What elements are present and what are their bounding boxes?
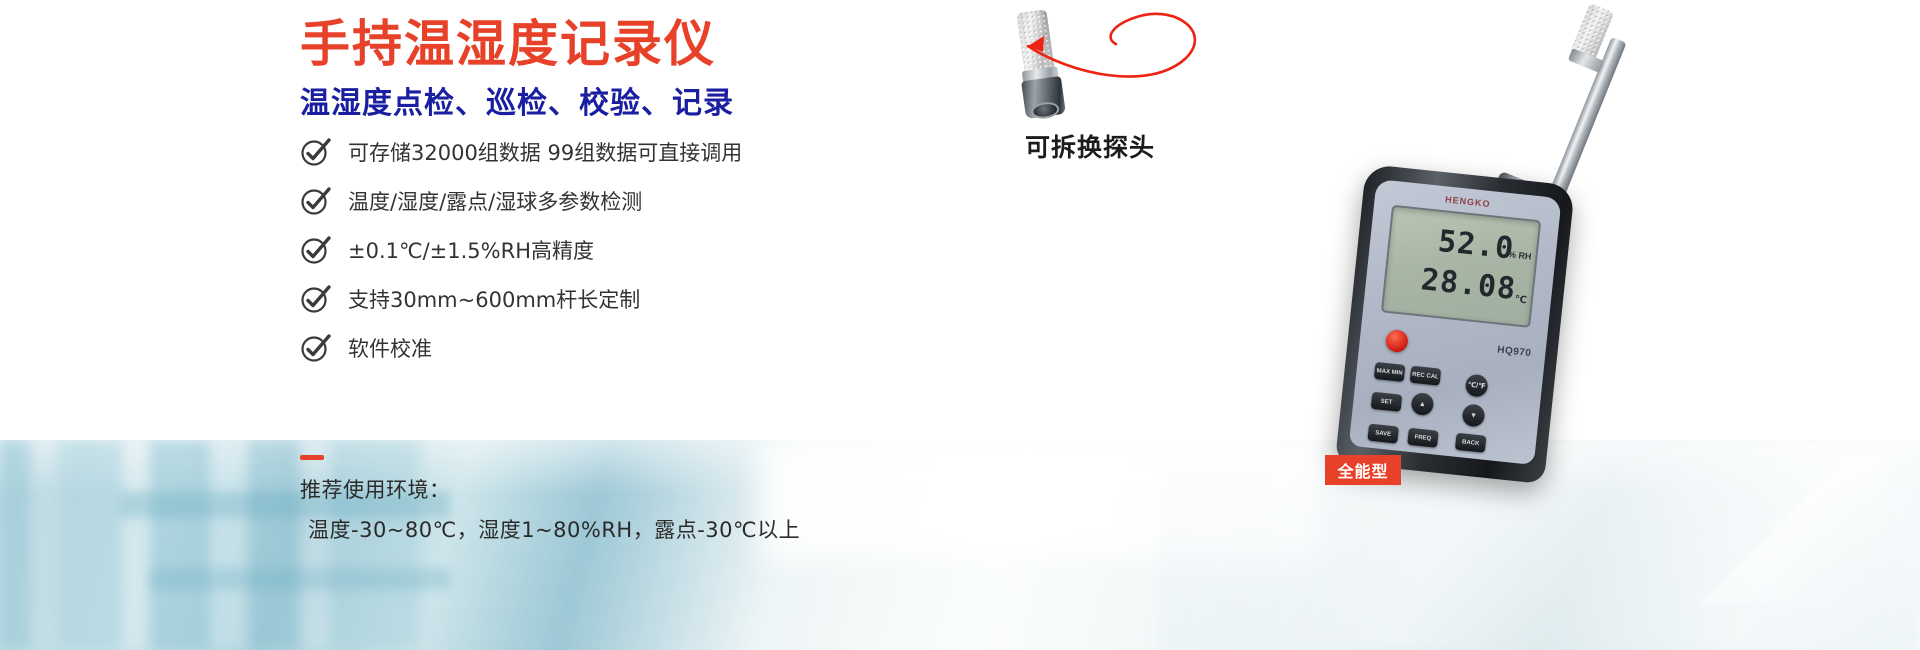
key-save[interactable]: SAVE — [1367, 424, 1399, 444]
key-up[interactable]: ▲ — [1410, 392, 1434, 416]
list-item: ±0.1℃/±1.5%RH高精度 — [300, 228, 940, 272]
meter-front-panel: HENGKO 52.0 % RH 28.08 ℃ HQ970 MAX MIN R… — [1349, 179, 1562, 465]
circle-check-icon — [300, 333, 334, 363]
circle-check-icon — [300, 284, 334, 314]
key-down[interactable]: ▼ — [1461, 403, 1485, 427]
meter-housing: HENGKO 52.0 % RH 28.08 ℃ HQ970 MAX MIN R… — [1335, 164, 1575, 484]
list-item-label: 可存储32000组数据 99组数据可直接调用 — [348, 137, 742, 167]
environment-note: 推荐使用环境： 温度-30~80℃，湿度1~80%RH，露点-30℃以上 — [300, 455, 960, 544]
model-number: HQ970 — [1497, 345, 1532, 360]
accent-dash — [300, 455, 324, 460]
lcd-temperature-value: 28.08 — [1419, 262, 1517, 307]
list-item-label: 软件校准 — [348, 333, 432, 363]
power-button[interactable] — [1385, 329, 1409, 353]
circle-check-icon — [300, 235, 334, 265]
lcd-humidity-value: 52.0 — [1436, 224, 1515, 267]
curved-arrow-icon — [1000, 0, 1230, 110]
key-set[interactable]: SET — [1371, 392, 1403, 412]
keypad: MAX MIN REC CAL ℃/℉ SET ▲ ▼ SAVE FREQ BA… — [1363, 361, 1529, 463]
circle-check-icon — [300, 137, 334, 167]
list-item-label: ±0.1℃/±1.5%RH高精度 — [348, 235, 594, 265]
list-item: 软件校准 — [300, 326, 940, 370]
environment-note-detail: 温度-30~80℃，湿度1~80%RH，露点-30℃以上 — [300, 514, 960, 544]
page-title: 手持温湿度记录仪 — [300, 4, 716, 76]
environment-note-heading: 推荐使用环境： — [300, 474, 960, 504]
handheld-meter: HENGKO 52.0 % RH 28.08 ℃ HQ970 MAX MIN R… — [1240, 6, 1660, 486]
list-item-label: 支持30mm~600mm杆长定制 — [348, 284, 640, 314]
key-back[interactable]: BACK — [1455, 433, 1487, 453]
list-item: 温度/湿度/露点/湿球多参数检测 — [300, 179, 940, 223]
circle-check-icon — [300, 186, 334, 216]
key-reccal[interactable]: REC CAL — [1410, 366, 1442, 386]
lcd-display: 52.0 % RH 28.08 ℃ — [1381, 205, 1541, 328]
list-item: 支持30mm~600mm杆长定制 — [300, 277, 940, 321]
key-maxmin[interactable]: MAX MIN — [1374, 362, 1406, 382]
key-unit[interactable]: ℃/℉ — [1465, 374, 1489, 398]
list-item: 可存储32000组数据 99组数据可直接调用 — [300, 130, 940, 174]
product-image-group: 可拆换探头 HENGKO 52.0 % RH 28.08 ℃ HQ970 — [940, 0, 1920, 650]
list-item-label: 温度/湿度/露点/湿球多参数检测 — [348, 186, 642, 216]
page-subtitle: 温湿度点检、巡检、校验、记录 — [300, 78, 734, 122]
lcd-temperature-unit: ℃ — [1514, 294, 1527, 306]
status-badge: 全能型 — [1325, 455, 1401, 485]
feature-list: 可存储32000组数据 99组数据可直接调用 温度/湿度/露点/湿球多参数检测 — [300, 130, 940, 375]
key-freq[interactable]: FREQ — [1407, 428, 1439, 448]
probe-label: 可拆换探头 — [980, 128, 1200, 164]
text-column: 手持温湿度记录仪 温湿度点检、巡检、校验、记录 可存储32000组数据 99组数… — [0, 0, 960, 650]
product-banner: 手持温湿度记录仪 温湿度点检、巡检、校验、记录 可存储32000组数据 99组数… — [0, 0, 1920, 650]
